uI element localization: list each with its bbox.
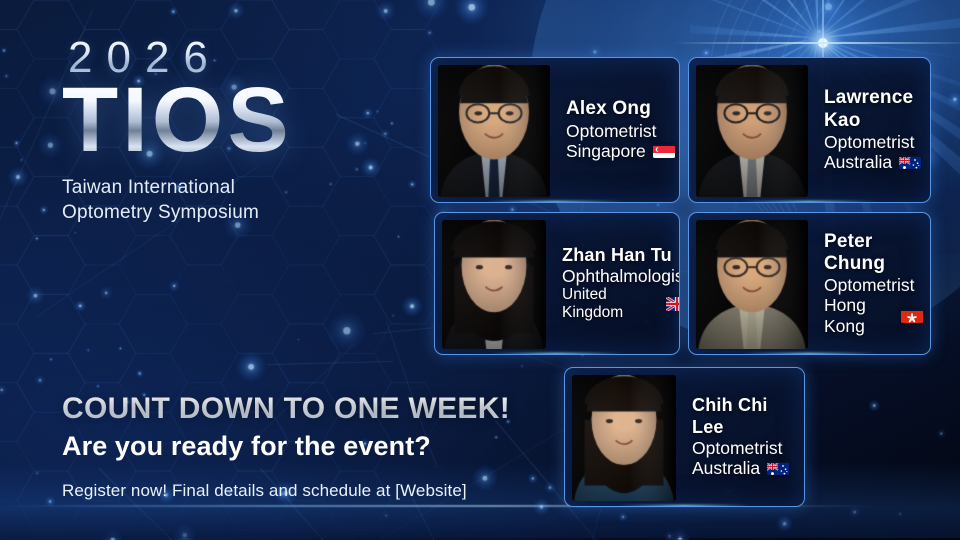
singapore-flag-icon xyxy=(653,144,675,158)
speaker-photo xyxy=(696,65,808,197)
speaker-photo xyxy=(442,220,546,349)
announcement-block: COUNT DOWN TO ONE WEEK! Are you ready fo… xyxy=(62,392,532,501)
speaker-country-label: Australia xyxy=(692,458,760,478)
speaker-name: Zhan Han Tu xyxy=(562,245,680,266)
speaker-role: Optometrist xyxy=(824,132,923,152)
speaker-country: United Kingdom xyxy=(562,286,680,322)
speaker-country: Australia xyxy=(824,152,923,172)
speaker-country-label: Hong Kong xyxy=(824,295,894,336)
speaker-country: Hong Kong xyxy=(824,295,923,336)
speaker-role: Optometrist xyxy=(566,121,675,141)
australia-flag-icon xyxy=(767,461,789,475)
speaker-photo xyxy=(572,375,676,501)
logo-subtitle-line-1: Taiwan International xyxy=(62,176,392,200)
speaker-name: Chih Chi Lee xyxy=(692,395,797,437)
speaker-info: Alex OngOptometristSingapore xyxy=(550,65,675,195)
event-poster: 2026 TIOS Taiwan International Optometry… xyxy=(0,0,960,540)
speaker-photo xyxy=(438,65,550,197)
speaker-photo xyxy=(696,220,808,349)
speaker-info: Peter ChungOptometristHong Kong xyxy=(808,220,923,347)
lens-flare-icon xyxy=(818,38,828,48)
speaker-country: Australia xyxy=(692,458,797,478)
speaker-name: Alex Ong xyxy=(566,98,675,120)
speaker-country-label: Australia xyxy=(824,152,892,172)
speaker-card[interactable]: Alex OngOptometristSingapore xyxy=(430,57,680,203)
event-logo: 2026 TIOS Taiwan International Optometry… xyxy=(62,36,392,225)
speaker-info: Lawrence KaoOptometristAustralia xyxy=(808,65,923,195)
speaker-card[interactable]: Zhan Han TuOphthalmologistUnited Kingdom xyxy=(434,212,680,355)
speaker-country: Singapore xyxy=(566,141,675,161)
speaker-card[interactable]: Peter ChungOptometristHong Kong xyxy=(688,212,931,355)
speaker-info: Zhan Han TuOphthalmologistUnited Kingdom xyxy=(546,220,680,347)
speaker-role: Optometrist xyxy=(692,438,797,458)
question-subheadline: Are you ready for the event? xyxy=(62,431,532,462)
speaker-info: Chih Chi LeeOptometristAustralia xyxy=(676,375,797,499)
speaker-role: Optometrist xyxy=(824,275,923,295)
speaker-card[interactable]: Chih Chi LeeOptometristAustralia xyxy=(564,367,805,507)
logo-subtitle-line-2: Optometry Symposium xyxy=(62,201,392,225)
speaker-country-label: Singapore xyxy=(566,141,646,161)
logo-acronym: TIOS xyxy=(62,76,392,164)
australia-flag-icon xyxy=(899,155,921,169)
speaker-role: Ophthalmologist xyxy=(562,266,680,286)
countdown-headline: COUNT DOWN TO ONE WEEK! xyxy=(62,392,532,426)
united-kingdom-flag-icon xyxy=(666,297,680,311)
hong-kong-flag-icon xyxy=(901,309,923,323)
speaker-name: Peter Chung xyxy=(824,231,923,275)
speaker-name: Lawrence Kao xyxy=(824,87,923,131)
register-call-to-action[interactable]: Register now! Final details and schedule… xyxy=(62,481,532,501)
speaker-country-label: United Kingdom xyxy=(562,286,659,322)
speaker-card[interactable]: Lawrence KaoOptometristAustralia xyxy=(688,57,931,203)
horizon-line-decoration xyxy=(0,505,960,507)
